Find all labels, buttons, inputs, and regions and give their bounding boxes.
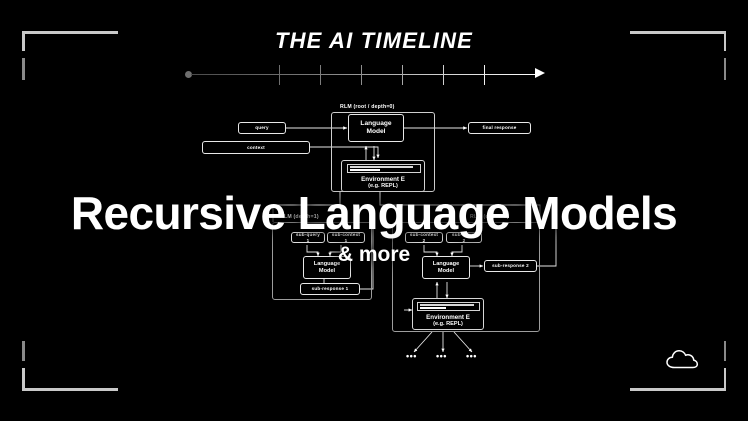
input-context-box[interactable]: context [202,141,310,154]
child2-environment-label: Environment E (e.g. REPL) [413,314,483,328]
root-language-model-label: LanguageModel [360,120,391,135]
root-frame-label: RLM (root / depth=0) [340,104,395,110]
recursion-marker: ••• [406,352,417,361]
child2-environment-box: Environment E (e.g. REPL) [412,298,484,330]
recursion-marker: ••• [436,352,447,361]
final-response-box[interactable]: final response [468,122,531,134]
input-query-label: query [255,125,269,130]
recursion-marker: ••• [466,352,477,361]
root-environment-title: Environment E [361,176,405,183]
child2-environment-title: Environment E [426,314,470,321]
child2-environment-subtitle: (e.g. REPL) [413,321,483,327]
main-title: Recursive Language Models [0,186,748,240]
child2-environment-code-snippet [417,302,480,311]
sub-response-1-box[interactable]: sub-response 1 [300,283,360,295]
sub-response-1-label: sub-response 1 [312,286,349,291]
slide-canvas: THE AI TIMELINE [0,0,748,421]
root-language-model-box: LanguageModel [348,114,404,142]
root-environment-code-snippet [347,164,421,173]
input-query-box[interactable]: query [238,122,286,134]
final-response-label: final response [483,125,517,130]
input-context-label: context [247,145,265,150]
sub-title: & more [0,243,748,267]
cloud-icon [665,348,699,375]
